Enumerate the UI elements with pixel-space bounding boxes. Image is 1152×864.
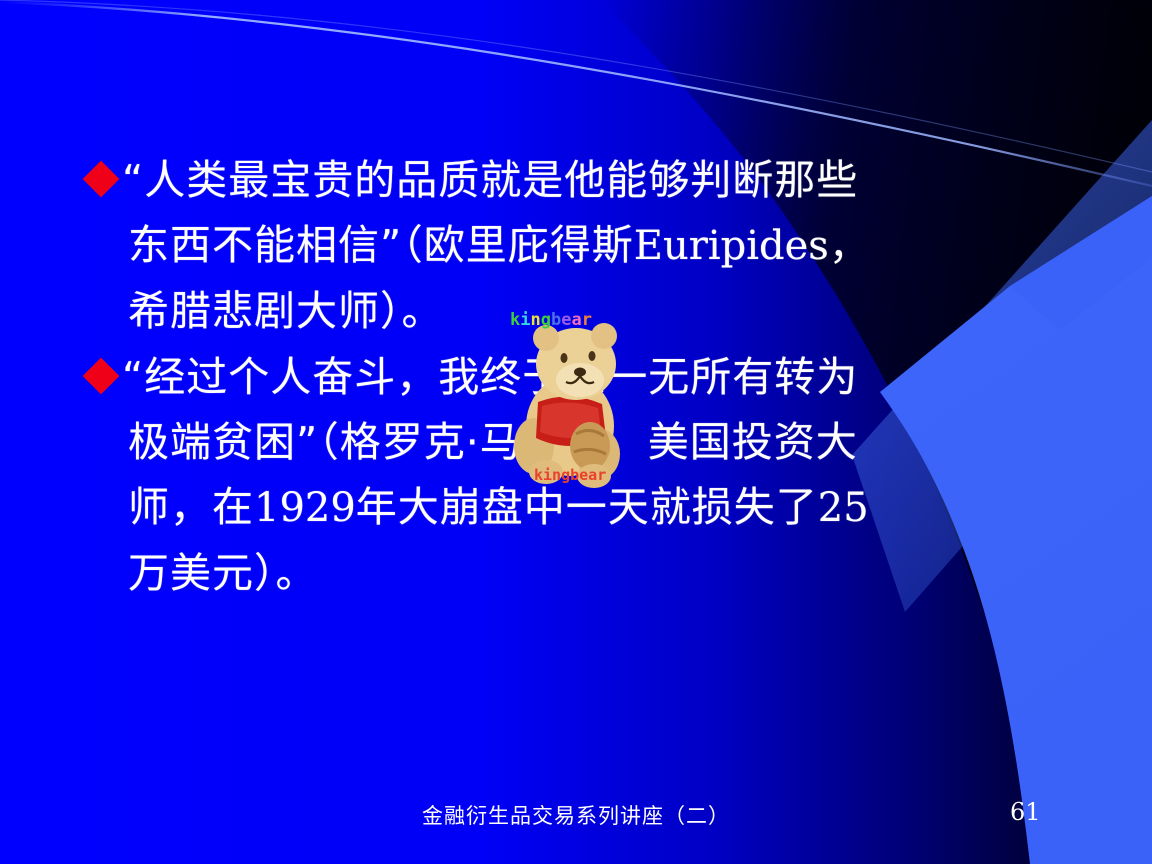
bullet-2-line-3: 师，在1929年大崩盘中一天就损失了25	[122, 475, 1098, 541]
slide-page-number: 61	[1010, 798, 1041, 826]
bullet-2-line-3-amount: 25	[818, 485, 869, 531]
bullet-2-line-3-year: 1929	[254, 485, 356, 531]
slide-footer-title: 金融衍生品交易系列讲座（二）	[0, 800, 1152, 830]
bullet-1-line-2-latin: Euripides，	[634, 223, 869, 269]
bullet-2-lines: “经过个人奋斗，我终于从一无所有转为 极端贫困”（格罗克·马克斯，美国投资大 师…	[122, 345, 1098, 606]
red-diamond-bullet-icon	[83, 161, 120, 198]
slide-content: “人类最宝贵的品质就是他能够判断那些 东西不能相信”（欧里庇得斯Euripide…	[0, 0, 1152, 864]
bullet-1-line-2: 东西不能相信”（欧里庇得斯Euripides，	[122, 213, 1098, 279]
bullet-2-line-2: 极端贫困”（格罗克·马克斯，美国投资大	[122, 410, 1098, 475]
bullet-1-lines: “人类最宝贵的品质就是他能够判断那些 东西不能相信”（欧里庇得斯Euripide…	[122, 148, 1098, 344]
red-diamond-bullet-icon	[83, 358, 120, 395]
slide-canvas: “人类最宝贵的品质就是他能够判断那些 东西不能相信”（欧里庇得斯Euripide…	[0, 0, 1152, 864]
bullet-2-line-1: “经过个人奋斗，我终于从一无所有转为	[122, 345, 1098, 410]
bullet-item-2: “经过个人奋斗，我终于从一无所有转为 极端贫困”（格罗克·马克斯，美国投资大 师…	[88, 345, 1098, 606]
bullet-1-line-3: 希腊悲剧大师）。	[122, 279, 1098, 344]
bullet-1-line-1: “人类最宝贵的品质就是他能够判断那些	[122, 148, 1098, 213]
bullet-2-line-3-cjk-a: 师，在	[128, 483, 254, 531]
bullet-item-1: “人类最宝贵的品质就是他能够判断那些 东西不能相信”（欧里庇得斯Euripide…	[88, 148, 1098, 344]
bullet-2-line-4: 万美元）。	[122, 541, 1098, 606]
bullet-1-line-2-cjk: 东西不能相信”（欧里庇得斯	[128, 221, 634, 269]
bullet-2-line-3-cjk-b: 年大崩盘中一天就损失了	[356, 483, 818, 531]
